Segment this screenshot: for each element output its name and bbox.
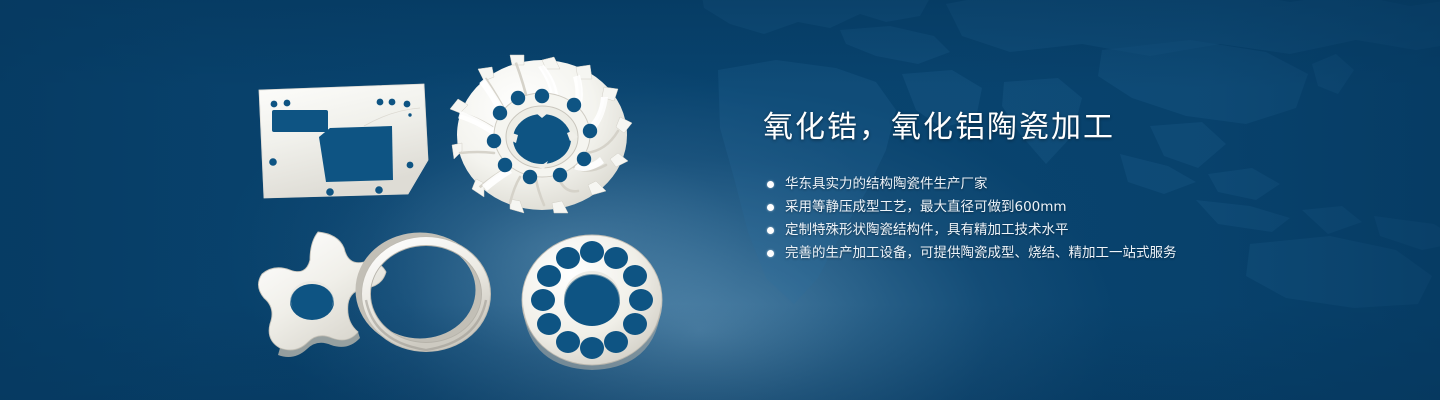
list-item-label: 定制特殊形状陶瓷结构件，具有精加工技术水平 [785,222,1069,238]
list-item-label: 采用等静压成型工艺，最大直径可做到600mm [785,199,1067,215]
banner-copy: 氧化锆，氧化铝陶瓷加工 华东具实力的结构陶瓷件生产厂家 采用等静压成型工艺，最大… [763,108,1323,265]
bullet-dot-icon [767,181,774,188]
banner-headline: 氧化锆，氧化铝陶瓷加工 [763,108,1323,148]
ceramic-machined-plate-image [252,82,432,202]
bullet-dot-icon [767,204,774,211]
list-item: 华东具实力的结构陶瓷件生产厂家 [763,173,1323,196]
ceramic-perforated-disc-image [518,230,666,370]
promo-banner: 氧化锆，氧化铝陶瓷加工 华东具实力的结构陶瓷件生产厂家 采用等静压成型工艺，最大… [0,0,1440,400]
bullet-dot-icon [767,227,774,234]
list-item-label: 华东具实力的结构陶瓷件生产厂家 [785,176,988,192]
list-item: 定制特殊形状陶瓷结构件，具有精加工技术水平 [763,219,1323,242]
list-item-label: 完善的生产加工设备，可提供陶瓷成型、烧结、精加工一站式服务 [785,245,1177,261]
bullet-dot-icon [767,250,774,257]
list-item: 完善的生产加工设备，可提供陶瓷成型、烧结、精加工一站式服务 [763,242,1323,265]
list-item: 采用等静压成型工艺，最大直径可做到600mm [763,196,1323,219]
ceramic-ring-image [352,230,502,356]
feature-list: 华东具实力的结构陶瓷件生产厂家 采用等静压成型工艺，最大直径可做到600mm 定… [763,173,1323,265]
ceramic-impeller-disc-image [450,55,635,220]
